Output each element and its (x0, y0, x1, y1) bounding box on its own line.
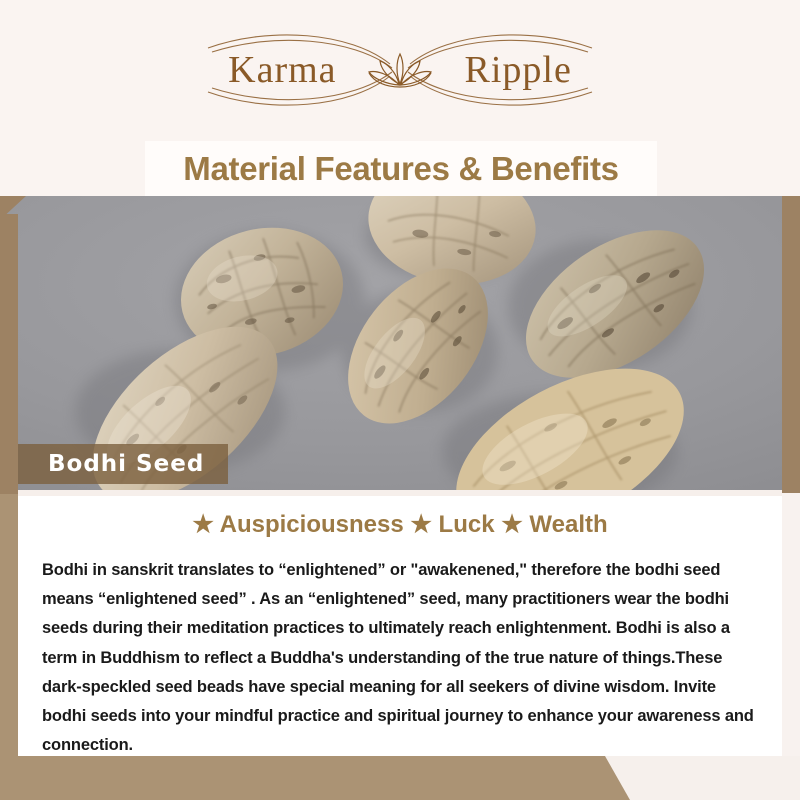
title-banner: Material Features & Benefits (145, 141, 657, 196)
infographic-page: Karma Ripple Material Features & Benefit… (0, 0, 800, 800)
content-card: ★ Auspiciousness ★ Luck ★ Wealth Bodhi i… (18, 494, 782, 756)
page-title: Material Features & Benefits (183, 150, 618, 188)
right-cream-edge (782, 494, 800, 800)
photo-right-band (782, 196, 800, 493)
description-paragraph: Bodhi in sanskrit translates to “enlight… (42, 556, 760, 760)
bottom-left-band (0, 494, 18, 800)
brand-logo: Karma Ripple (190, 28, 610, 112)
brand-name-left: Karma (228, 51, 336, 89)
card-top-strip (18, 490, 782, 496)
seed-label: Bodhi Seed (18, 444, 228, 484)
seed-label-text: Bodhi Seed (18, 451, 204, 477)
photo-left-band (0, 214, 18, 494)
bottom-tan-strip (0, 756, 605, 800)
brand-wordmark: Karma Ripple (190, 51, 610, 89)
bottom-cream-area (600, 756, 800, 800)
brand-name-right: Ripple (465, 51, 572, 89)
benefits-headline: ★ Auspiciousness ★ Luck ★ Wealth (18, 510, 782, 539)
